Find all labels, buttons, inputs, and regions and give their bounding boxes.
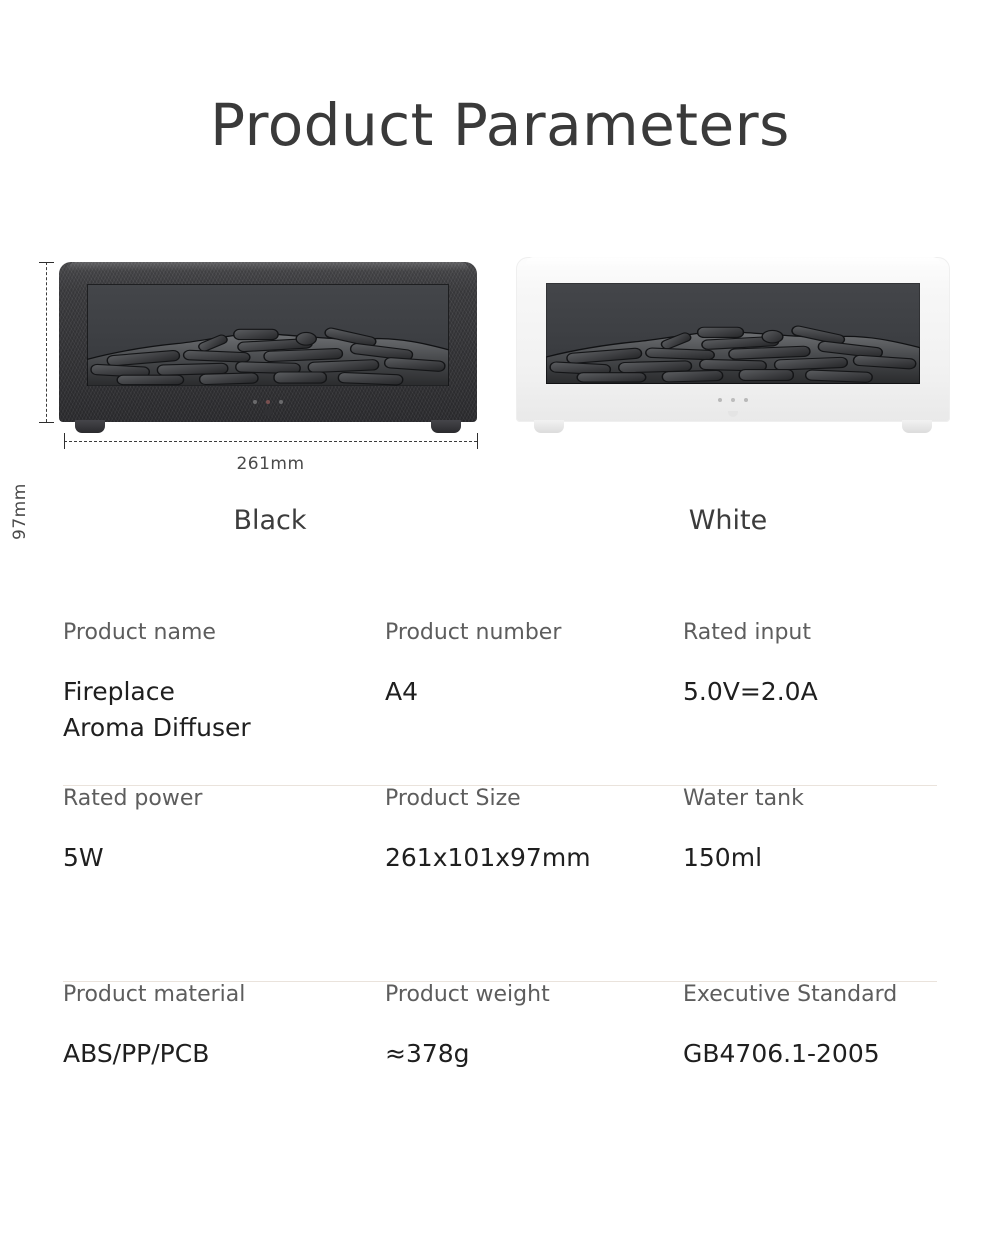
unit-foot-left (534, 420, 564, 433)
spec-value: ≈378g (385, 1036, 683, 1072)
spec-value: 150ml (683, 840, 937, 876)
spec-label: Product weight (385, 982, 683, 1008)
spec-row: Product name FireplaceAroma Diffuser Pro… (63, 620, 937, 786)
spec-cell: Rated input 5.0V=2.0A (683, 620, 937, 786)
spec-cell: Product Size 261x101x97mm (385, 786, 683, 982)
flame-button-dot[interactable] (731, 398, 735, 402)
spec-label: Executive Standard (683, 982, 937, 1008)
spec-value: 5.0V=2.0A (683, 674, 937, 710)
unit-foot-right (902, 420, 932, 433)
spec-cell: Executive Standard GB4706.1-2005 (683, 982, 937, 1112)
spec-label: Rated input (683, 620, 937, 646)
page-title: Product Parameters (0, 96, 1000, 154)
spec-label: Product name (63, 620, 385, 646)
width-dimension-cap-left (64, 433, 65, 449)
color-caption-white: White (578, 505, 878, 536)
unit-foot-left (75, 420, 105, 433)
spec-cell: Product material ABS/PP/PCB (63, 982, 385, 1112)
spec-cell: Product name FireplaceAroma Diffuser (63, 620, 385, 786)
spec-value: FireplaceAroma Diffuser (63, 674, 385, 745)
spec-value: 261x101x97mm (385, 840, 683, 876)
width-dimension-line (64, 441, 477, 442)
spec-row: Rated power 5W Product Size 261x101x97mm… (63, 786, 937, 982)
spec-cell: Product weight ≈378g (385, 982, 683, 1112)
spec-label: Product Size (385, 786, 683, 812)
spec-label: Rated power (63, 786, 385, 812)
spec-label: Product number (385, 620, 683, 646)
log-pile-graphic (87, 323, 449, 386)
specifications-table: Product name FireplaceAroma Diffuser Pro… (63, 620, 937, 1112)
control-buttons-white[interactable] (718, 398, 748, 402)
unit-top-bevel (525, 257, 942, 266)
mist-button-dot[interactable] (744, 398, 748, 402)
product-image-white (516, 257, 950, 422)
spec-cell: Water tank 150ml (683, 786, 937, 982)
unit-top-bevel (67, 262, 468, 271)
unit-foot-right (431, 420, 461, 433)
spec-value: ABS/PP/PCB (63, 1036, 385, 1072)
height-dimension-label: 97mm (10, 483, 30, 540)
mist-button-dot[interactable] (279, 400, 283, 404)
spec-value: A4 (385, 674, 683, 710)
flame-window-black (87, 284, 449, 386)
height-dimension-line (46, 262, 47, 422)
power-button-dot[interactable] (253, 400, 257, 404)
power-button-dot[interactable] (718, 398, 722, 402)
spec-label: Water tank (683, 786, 937, 812)
spec-value: 5W (63, 840, 385, 876)
control-buttons-black[interactable] (253, 400, 283, 404)
log-pile-graphic (546, 321, 920, 384)
color-caption-black: Black (120, 505, 420, 536)
flame-button-dot[interactable] (266, 400, 270, 404)
spec-cell: Product number A4 (385, 620, 683, 786)
spec-label: Product material (63, 982, 385, 1008)
width-dimension-cap-right (477, 433, 478, 449)
height-dimension-cap-top (39, 262, 54, 263)
product-image-black (59, 262, 477, 422)
width-dimension-label: 261mm (64, 454, 477, 474)
spec-cell: Rated power 5W (63, 786, 385, 982)
flame-window-white (546, 283, 920, 384)
spec-row: Product material ABS/PP/PCB Product weig… (63, 982, 937, 1112)
product-showcase: 97mm 261mm (0, 240, 1000, 540)
height-dimension-cap-bottom (39, 422, 54, 423)
spec-value: GB4706.1-2005 (683, 1036, 937, 1072)
